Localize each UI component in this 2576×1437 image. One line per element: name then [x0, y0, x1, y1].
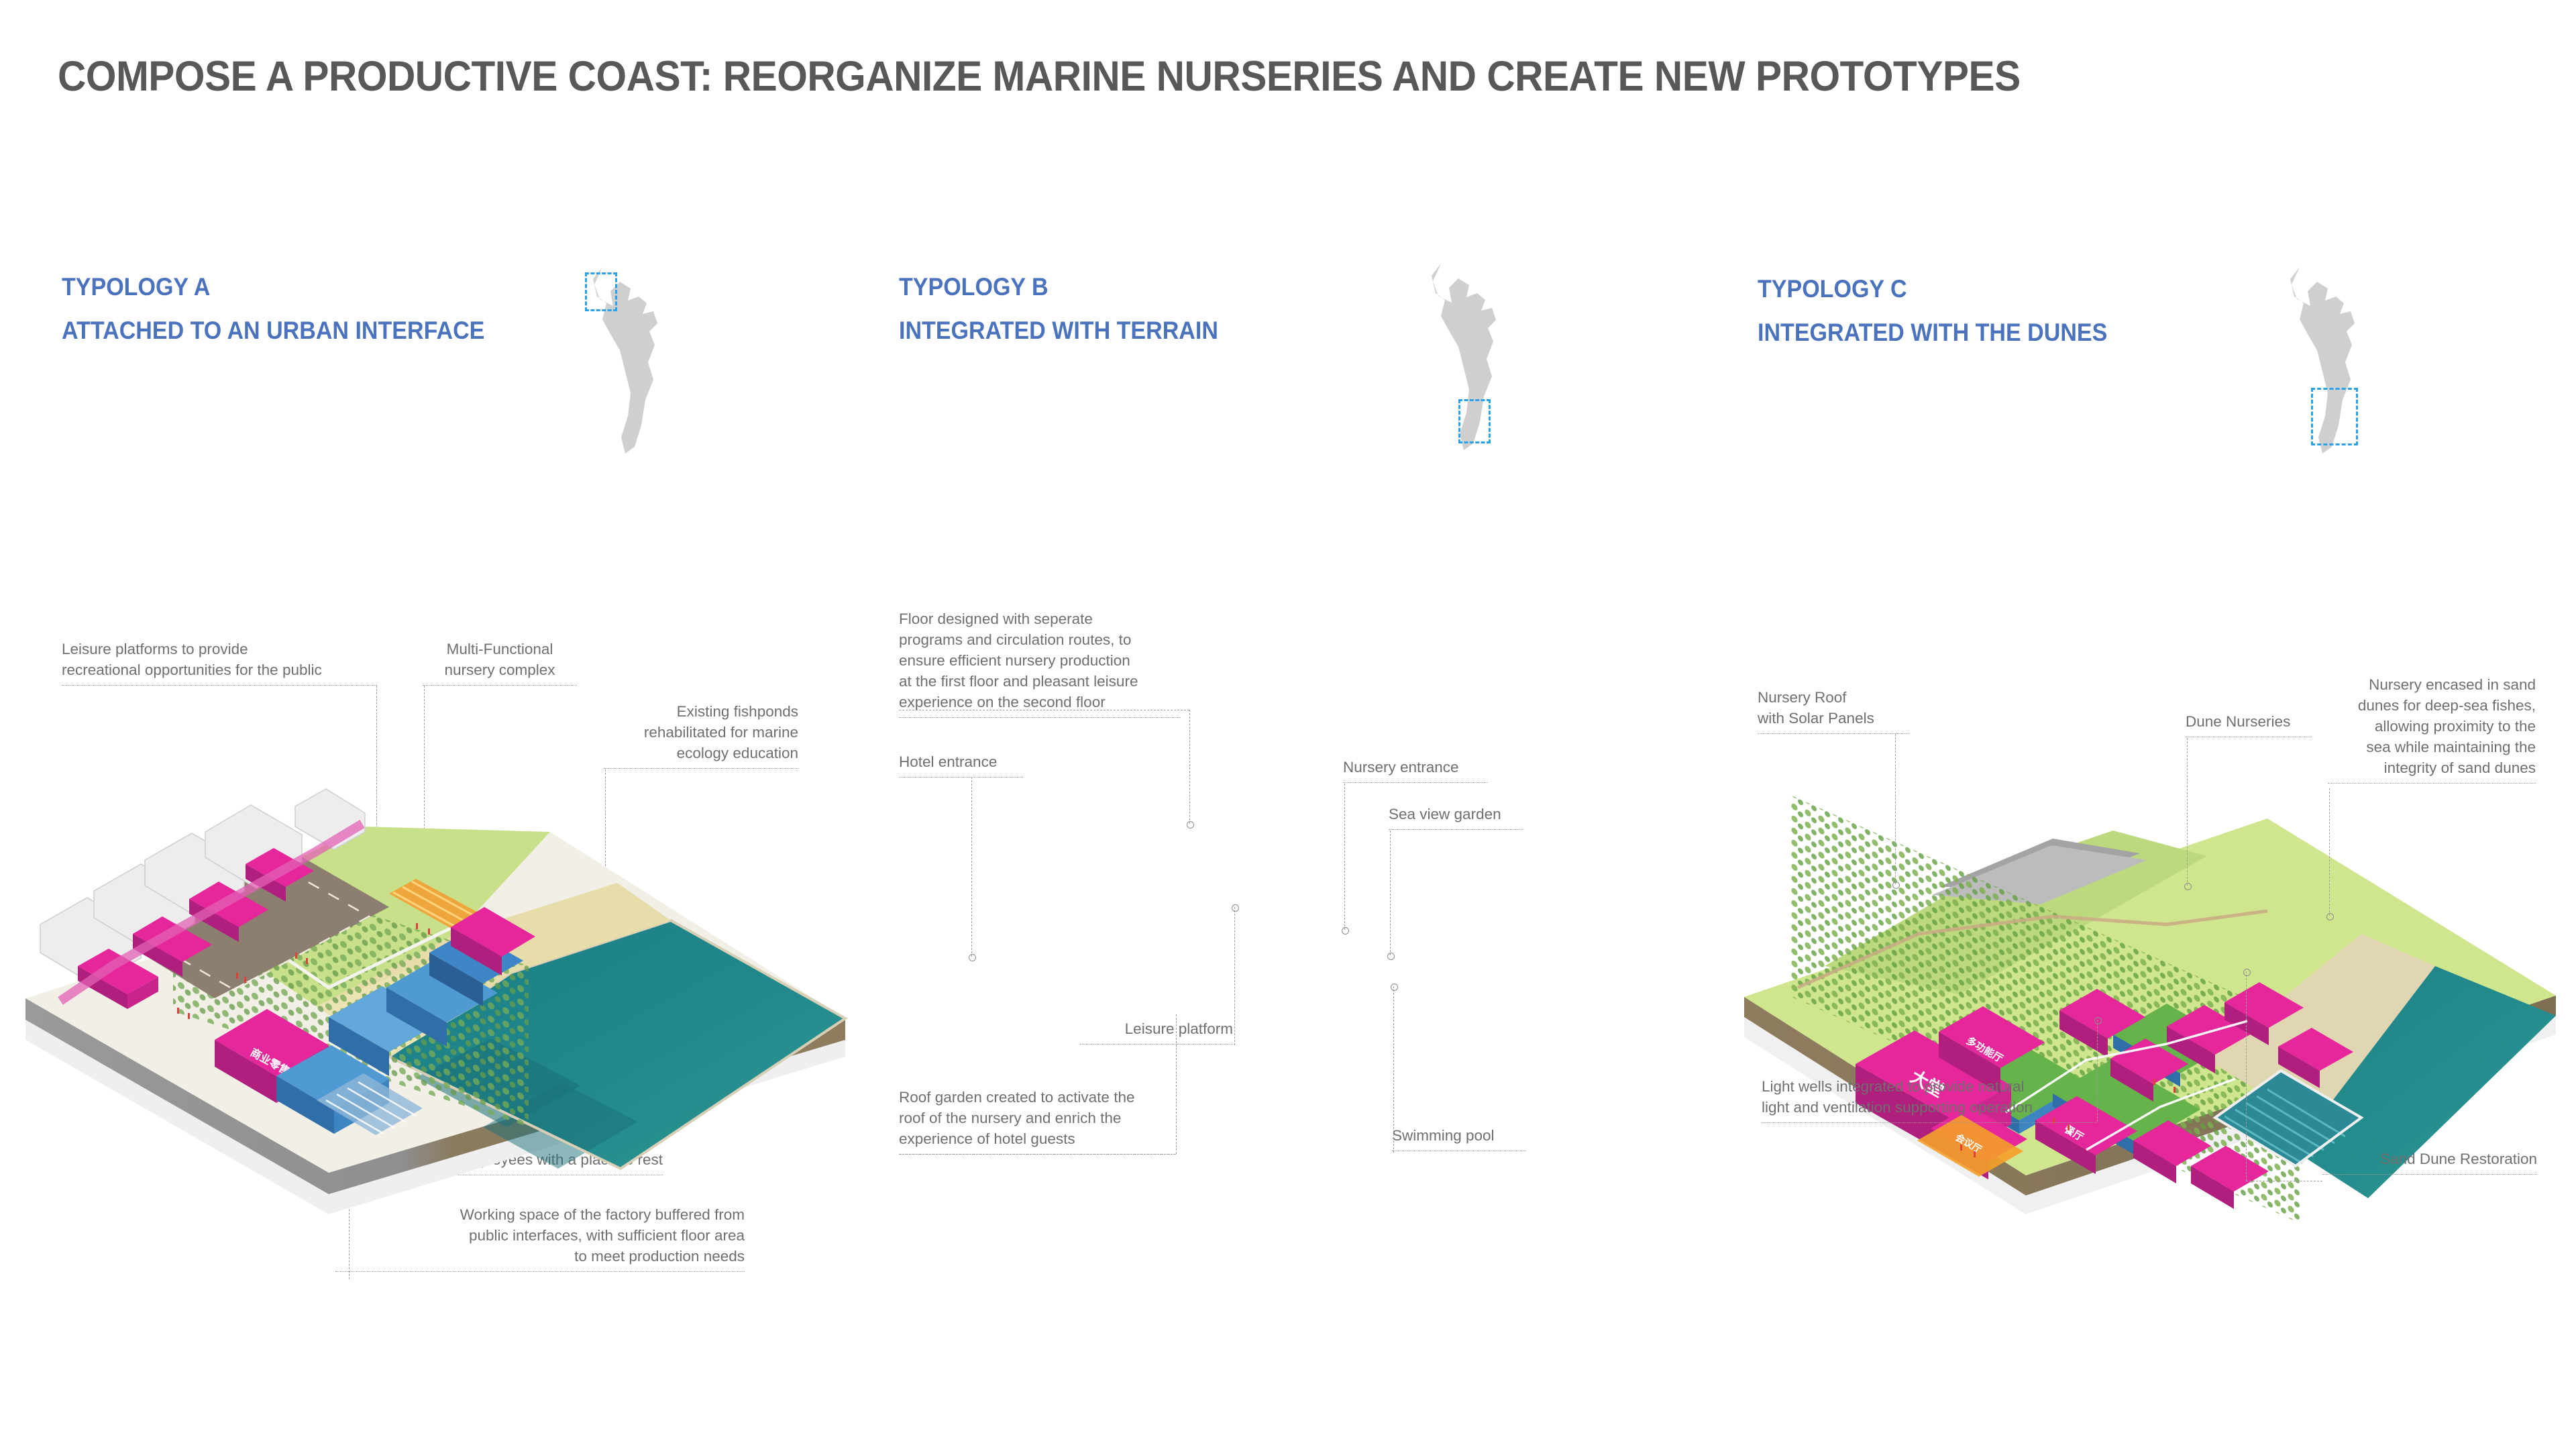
leader-sand-dune-restoration [2246, 971, 2247, 1181]
typology-panel-c: TYPOLOGY C INTEGRATED WITH THE DUNES Nur… [1717, 0, 2576, 1437]
annotation-swimming-pool: Swimming pool [1392, 1125, 1526, 1151]
leader-dot-sand-dune-restoration [2243, 969, 2251, 976]
annotation-nursery-complex: Multi-Functional nursery complex [423, 639, 577, 686]
typology-c-name: INTEGRATED WITH THE DUNES [1758, 311, 2107, 354]
annotation-sea-view-garden: Sea view garden [1389, 804, 1523, 830]
leader-dot-floor-program [1187, 821, 1194, 829]
annotation-light-wells: Light wells integrated to provide natura… [1762, 1076, 2097, 1123]
leader-roof-garden-h [899, 1154, 1176, 1155]
leader-dot-sea-view-garden [1387, 953, 1395, 960]
annotation-roof-garden: Roof garden created to activate the roof… [899, 1087, 1175, 1155]
leader-leisure-platform [1234, 907, 1235, 1045]
typology-a-heading: TYPOLOGY A ATTACHED TO AN URBAN INTERFAC… [62, 265, 521, 352]
typology-a-label: TYPOLOGY A [62, 265, 484, 309]
leader-sand-dune-restoration-h [2246, 1181, 2322, 1181]
typology-b-heading: TYPOLOGY B INTEGRATED WITH TERRAIN [899, 265, 1246, 352]
leader-floor-program-h [899, 710, 1189, 710]
locator-box-c [2311, 388, 2358, 445]
typology-panel-a: TYPOLOGY A ATTACHED TO AN URBAN INTERFAC… [0, 0, 859, 1437]
typology-c-label: TYPOLOGY C [1758, 267, 2107, 311]
leader-dot-leisure-platform [1232, 904, 1239, 912]
locator-map-a [563, 262, 718, 456]
typology-c-heading: TYPOLOGY C INTEGRATED WITH THE DUNES [1758, 267, 2138, 354]
annotation-dune-nurseries: Dune Nurseries [2186, 711, 2312, 737]
leader-light-wells [2097, 1020, 2098, 1122]
locator-box-b [1458, 399, 1491, 443]
leader-dot-hotel-entrance [969, 954, 976, 961]
locator-box-a [585, 272, 617, 311]
leader-nursery-in-dunes [2329, 788, 2330, 916]
locator-map-c [2261, 262, 2415, 456]
annotation-leisure-platform: Leisure platform [1080, 1018, 1233, 1045]
leader-sea-view-garden [1390, 831, 1391, 955]
annotation-hotel-entrance: Hotel entrance [899, 751, 1023, 778]
typology-panel-b: TYPOLOGY B INTEGRATED WITH TERRAIN Floor… [859, 0, 1717, 1437]
leader-hotel-entrance [971, 777, 972, 957]
typology-a-name: ATTACHED TO AN URBAN INTERFACE [62, 309, 484, 352]
typology-b-name: INTEGRATED WITH TERRAIN [899, 309, 1218, 352]
annotation-leisure-platforms: Leisure platforms to provide recreationa… [62, 639, 377, 686]
leader-roof-garden [1176, 1014, 1177, 1154]
typology-b-label: TYPOLOGY B [899, 265, 1218, 309]
axonometric-typology-a: 商业零售 [13, 751, 859, 1221]
annotation-nursery-in-dunes: Nursery encased in sand dunes for deep-s… [2328, 674, 2536, 784]
leader-dot-nursery-in-dunes [2326, 913, 2334, 920]
leader-dot-swimming-pool [1391, 983, 1398, 991]
leader-nursery-roof-solar [1895, 734, 1896, 884]
leader-dune-nurseries [2187, 738, 2188, 886]
annotation-sand-dune-restoration: Sand Dune Restoration [2322, 1149, 2537, 1175]
leader-nursery-entrance [1344, 784, 1345, 930]
leader-swimming-pool [1393, 986, 1394, 1153]
leader-dot-nursery-roof-solar [1892, 882, 1900, 889]
leader-dot-dune-nurseries [2184, 883, 2192, 890]
leader-dot-light-wells [2094, 1017, 2102, 1024]
presentation-board: COMPOSE A PRODUCTIVE COAST: REORGANIZE M… [0, 0, 2576, 1437]
annotation-nursery-entrance: Nursery entrance [1343, 757, 1487, 783]
leader-dot-nursery-entrance [1342, 927, 1349, 935]
annotation-floor-program: Floor designed with seperate programs an… [899, 608, 1181, 718]
leader-floor-program [1189, 710, 1190, 824]
locator-map-b [1402, 258, 1556, 453]
annotation-nursery-roof-solar: Nursery Roof with Solar Panels [1758, 687, 1909, 734]
